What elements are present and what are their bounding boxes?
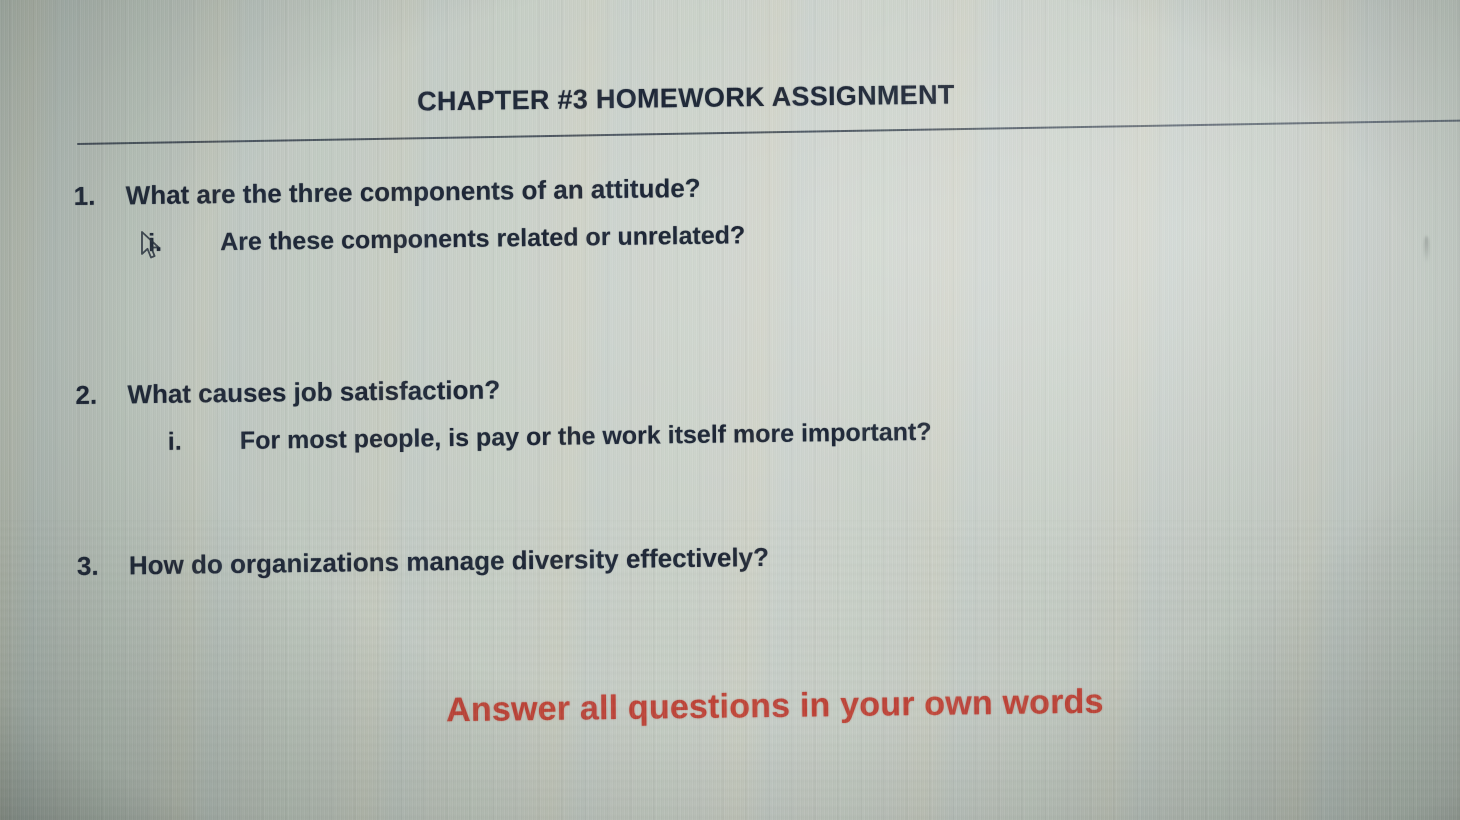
question-number: 2.: [75, 379, 127, 411]
page-title: CHAPTER #3 HOMEWORK ASSIGNMENT: [1, 73, 1460, 123]
question-number: 1.: [74, 180, 126, 212]
document-body: CHAPTER #3 HOMEWORK ASSIGNMENT 1. What a…: [0, 0, 1460, 820]
sub-question-marker: i.: [168, 427, 240, 457]
sub-question-item: i. For most people, is pay or the work i…: [168, 418, 932, 457]
title-divider: [77, 120, 1460, 145]
sub-question-text: Are these components related or unrelate…: [220, 221, 745, 257]
question-text: How do organizations manage diversity ef…: [129, 542, 769, 581]
sub-question-item: i. Are these components related or unrel…: [148, 221, 745, 258]
question-number: 3.: [77, 550, 129, 582]
question-item: 2. What causes job satisfaction?: [75, 374, 500, 411]
sub-question-text: For most people, is pay or the work itse…: [240, 418, 932, 456]
monitor-photo: CHAPTER #3 HOMEWORK ASSIGNMENT 1. What a…: [0, 0, 1460, 820]
answer-instruction-notice: Answer all questions in your own words: [446, 683, 1104, 731]
question-text: What are the three components of an atti…: [126, 173, 701, 212]
sub-question-marker: i.: [148, 228, 220, 258]
question-item: 1. What are the three components of an a…: [74, 173, 701, 212]
question-text: What causes job satisfaction?: [127, 374, 500, 410]
question-item: 3. How do organizations manage diversity…: [77, 542, 769, 582]
